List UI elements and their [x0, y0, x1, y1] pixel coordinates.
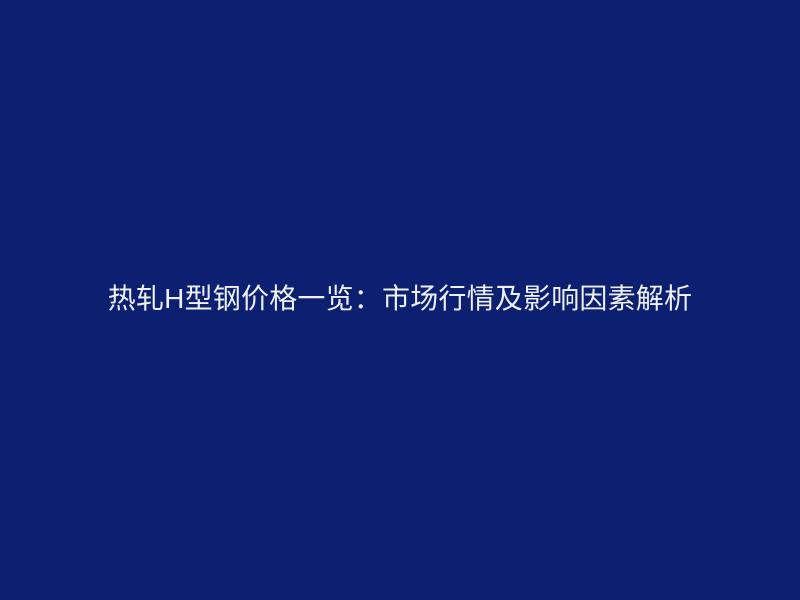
banner-title-container: 热轧H型钢价格一览：市场行情及影响因素解析	[0, 283, 800, 315]
page-title: 热轧H型钢价格一览：市场行情及影响因素解析	[108, 283, 692, 315]
title-banner: 热轧H型钢价格一览：市场行情及影响因素解析	[0, 0, 800, 600]
